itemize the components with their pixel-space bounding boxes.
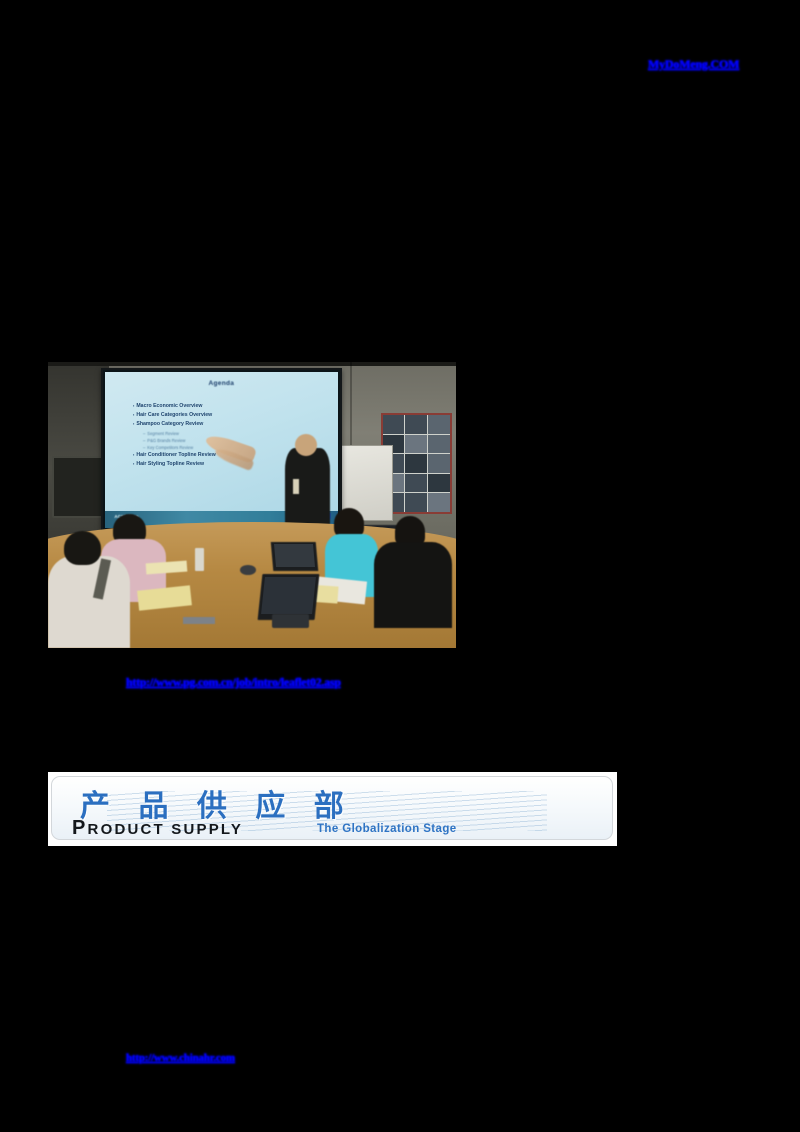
- footer-link[interactable]: http://www.chinahr.com: [126, 1051, 276, 1066]
- banner-card: 产 品 供 应 部 PRODUCT SUPPLY The Globalizati…: [51, 776, 613, 840]
- ceiling-edge: [48, 362, 456, 366]
- water-bottle: [195, 548, 204, 571]
- conference-phone: [272, 614, 309, 628]
- photo-content: Agenda Macro Economic Overview Hair Care…: [48, 362, 456, 648]
- slide-bullet: Macro Economic Overview: [133, 403, 324, 409]
- laptop-near-screen: [261, 577, 315, 614]
- header-watermark-link[interactable]: MyDoMeng.COM: [648, 56, 758, 72]
- product-supply-banner: 产 品 供 应 部 PRODUCT SUPPLY The Globalizati…: [48, 772, 617, 846]
- photo-caption-link[interactable]: http://www.pg.com.cn/job/intro/leaflet02…: [126, 674, 422, 690]
- banner-english-rest: RODUCT SUPPLY: [88, 821, 244, 838]
- attendee-body-right: [374, 542, 452, 628]
- attendee-body-foreground: [48, 556, 130, 648]
- meeting-photo: Agenda Macro Economic Overview Hair Care…: [48, 362, 456, 648]
- attendee-head-foreground: [64, 531, 101, 565]
- slide-bullet: Shampoo Category Review: [133, 421, 324, 427]
- table-object: [240, 565, 256, 575]
- document-page: MyDoMeng.COM Agenda Macro Econo: [0, 0, 800, 1132]
- banner-tagline: The Globalization Stage: [317, 823, 457, 835]
- slide-title: Agenda: [105, 380, 338, 387]
- slide-sub-bullet: Segment Review: [143, 431, 324, 436]
- remote-control: [183, 617, 216, 624]
- banner-english-initial: P: [72, 817, 88, 839]
- laptop-far-screen: [274, 544, 315, 567]
- slide-bullet: Hair Care Categories Overview: [133, 412, 324, 418]
- presenter-badge: [293, 479, 300, 493]
- banner-english-title: PRODUCT SUPPLY: [72, 817, 243, 840]
